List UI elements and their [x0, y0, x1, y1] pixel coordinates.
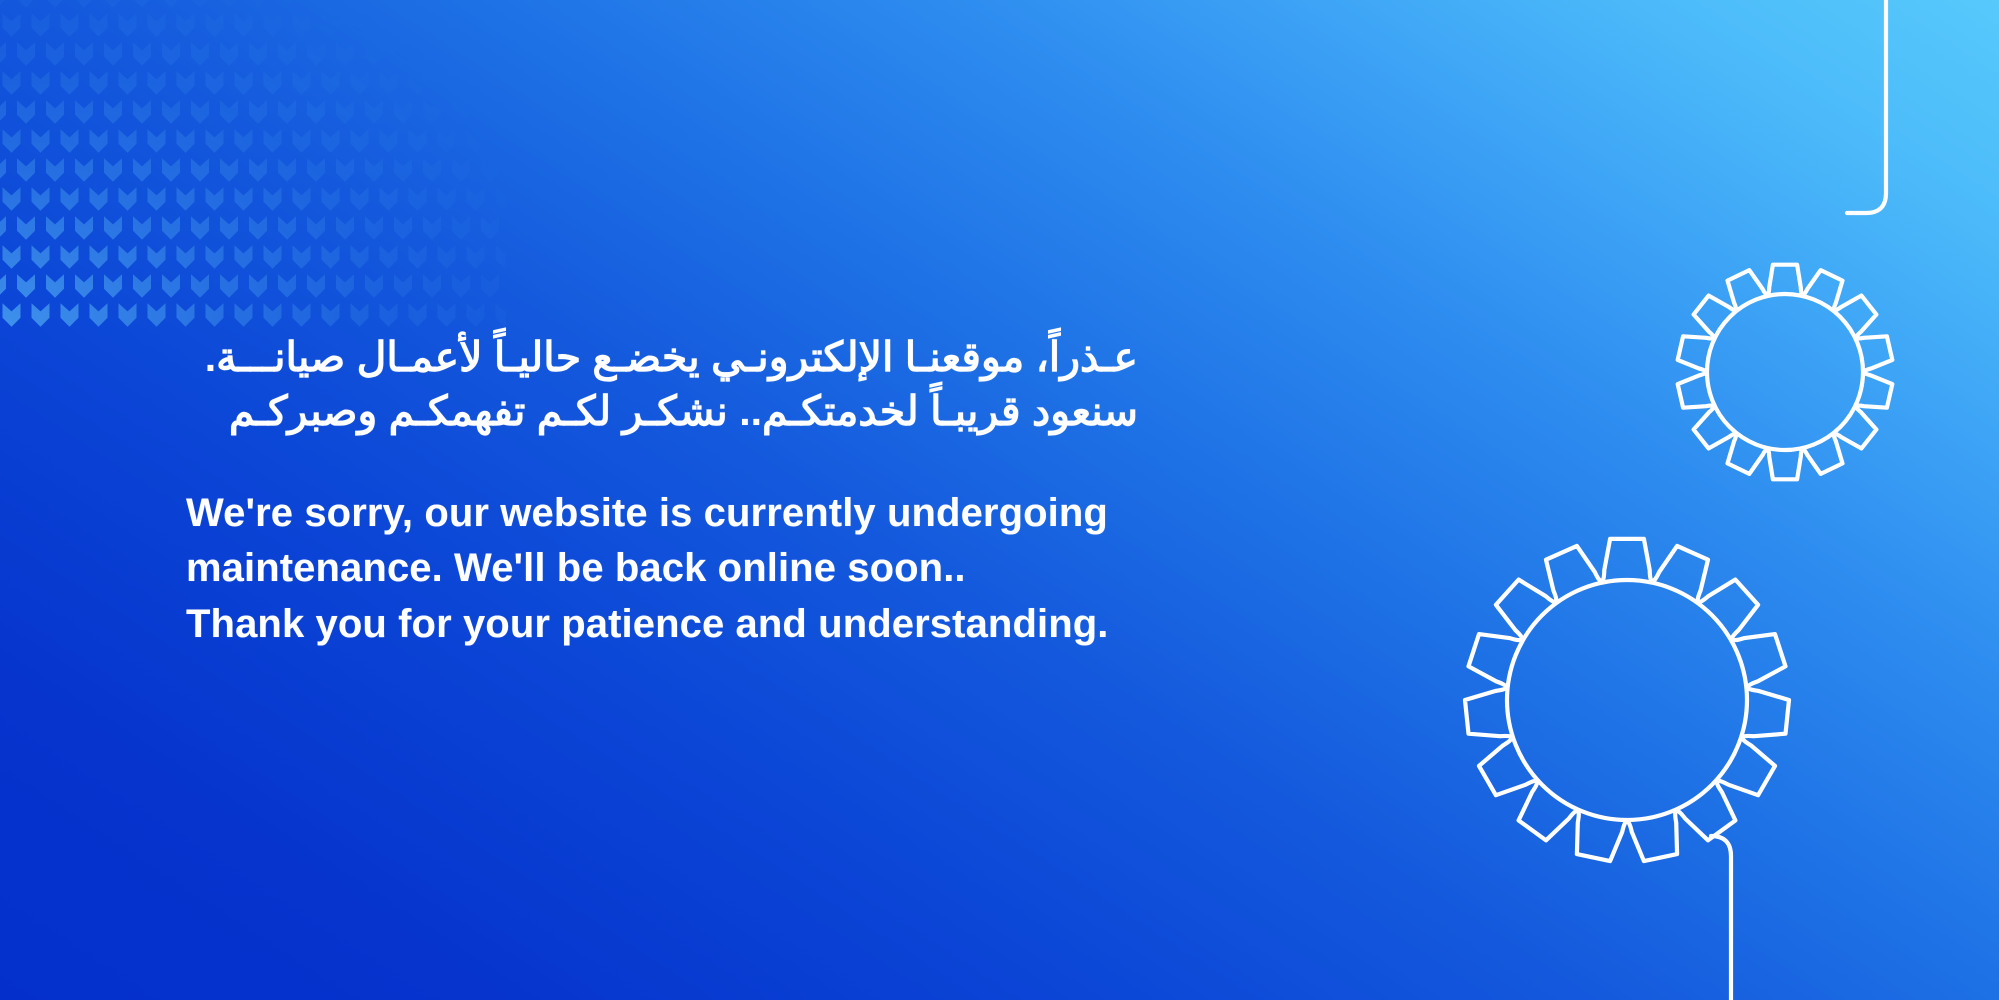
message-block: عـذراً، موقعنـا الإلكترونـي يخضـع حاليـا…	[186, 330, 1166, 652]
maintenance-page: عـذراً، موقعنـا الإلكترونـي يخضـع حاليـا…	[0, 0, 1999, 1000]
english-line-3: Thank you for your patience and understa…	[186, 597, 1166, 652]
gear-illustration	[1259, 0, 1999, 1000]
chevron-grid	[0, 0, 506, 327]
small-gear-hub	[1707, 294, 1863, 450]
small-gear-teeth	[1678, 265, 1893, 480]
english-message: We're sorry, our website is currently un…	[186, 486, 1166, 652]
english-line-1: We're sorry, our website is currently un…	[186, 486, 1166, 541]
english-line-2: maintenance. We'll be back online soon..	[186, 541, 1166, 596]
top-connector-line	[1847, 0, 1886, 213]
large-gear-hub	[1507, 580, 1747, 820]
large-gear-teeth	[1465, 539, 1789, 861]
small-gear	[1678, 265, 1893, 480]
arabic-message: عـذراً، موقعنـا الإلكترونـي يخضـع حاليـا…	[186, 330, 1138, 438]
chevron-pattern-decoration	[0, 0, 506, 342]
arabic-line-1: عـذراً، موقعنـا الإلكترونـي يخضـع حاليـا…	[186, 330, 1138, 384]
arabic-line-2: سنعود قريبـاً لخدمتكـم.. نشكـر لكـم تفهم…	[186, 384, 1138, 438]
large-gear	[1465, 539, 1789, 861]
bottom-connector-line	[1711, 836, 1731, 1000]
